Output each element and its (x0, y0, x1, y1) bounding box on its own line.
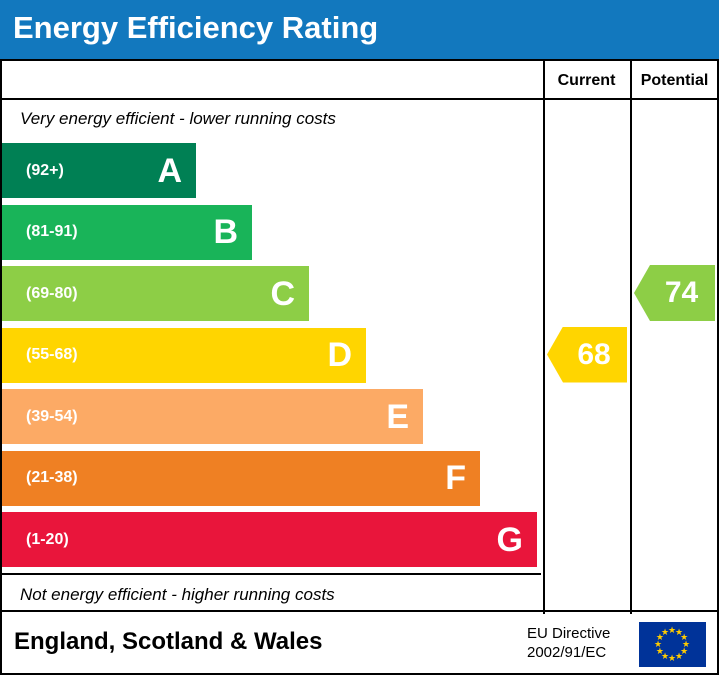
band-letter-g: G (497, 523, 523, 557)
band-range-e: (39-54) (26, 408, 78, 426)
band-range-c: (69-80) (26, 285, 78, 303)
eu-directive-line1: EU Directive (527, 624, 610, 643)
caption-top: Very energy efficient - lower running co… (2, 100, 541, 141)
rating-grid: Current Potential Very energy efficient … (0, 59, 719, 612)
page-title: Energy Efficiency Rating (13, 10, 378, 46)
column-divider-2 (630, 61, 632, 614)
band-range-b: (81-91) (26, 223, 78, 241)
eu-star-icon: ★ (675, 652, 683, 661)
rating-arrow-potential: 74 (634, 265, 715, 321)
band-letter-e: E (386, 400, 409, 434)
column-header-potential: Potential (630, 61, 719, 100)
eu-star-icon: ★ (668, 654, 676, 663)
caption-top-text: Very energy efficient - lower running co… (20, 109, 336, 129)
band-range-a: (92+) (26, 162, 64, 180)
band-letter-d: D (327, 338, 352, 372)
band-e: (39-54)E (2, 389, 423, 444)
band-range-f: (21-38) (26, 469, 78, 487)
column-divider-1 (543, 61, 545, 614)
rating-value-current: 68 (547, 340, 627, 370)
rating-arrow-current: 68 (547, 327, 627, 383)
band-c: (69-80)C (2, 266, 309, 321)
band-letter-c: C (270, 277, 295, 311)
band-b: (81-91)B (2, 205, 252, 260)
column-header-current: Current (543, 61, 630, 100)
band-letter-b: B (213, 215, 238, 249)
eu-directive-text: EU Directive 2002/91/EC (527, 624, 610, 662)
band-letter-f: F (445, 461, 466, 495)
band-f: (21-38)F (2, 451, 480, 506)
eu-star-icon: ★ (661, 628, 669, 637)
band-list: (92+)A(81-91)B(69-80)C(55-68)D(39-54)E(2… (2, 141, 541, 573)
eu-flag-icon: ★★★★★★★★★★★★ (639, 622, 706, 667)
band-a: (92+)A (2, 143, 196, 198)
caption-bottom-text: Not energy efficient - higher running co… (20, 585, 335, 605)
chart-footer: England, Scotland & Wales EU Directive 2… (0, 612, 719, 675)
caption-bottom: Not energy efficient - higher running co… (2, 573, 541, 614)
band-g: (1-20)G (2, 512, 537, 567)
band-d: (55-68)D (2, 328, 366, 383)
region-label: England, Scotland & Wales (14, 628, 322, 656)
band-letter-a: A (157, 154, 182, 188)
rating-value-potential: 74 (634, 278, 715, 308)
eu-directive-line2: 2002/91/EC (527, 643, 610, 662)
band-range-g: (1-20) (26, 531, 69, 549)
epc-chart: Energy Efficiency Rating Current Potenti… (0, 0, 719, 675)
band-range-d: (55-68) (26, 346, 78, 364)
chart-title-bar: Energy Efficiency Rating (0, 0, 719, 59)
